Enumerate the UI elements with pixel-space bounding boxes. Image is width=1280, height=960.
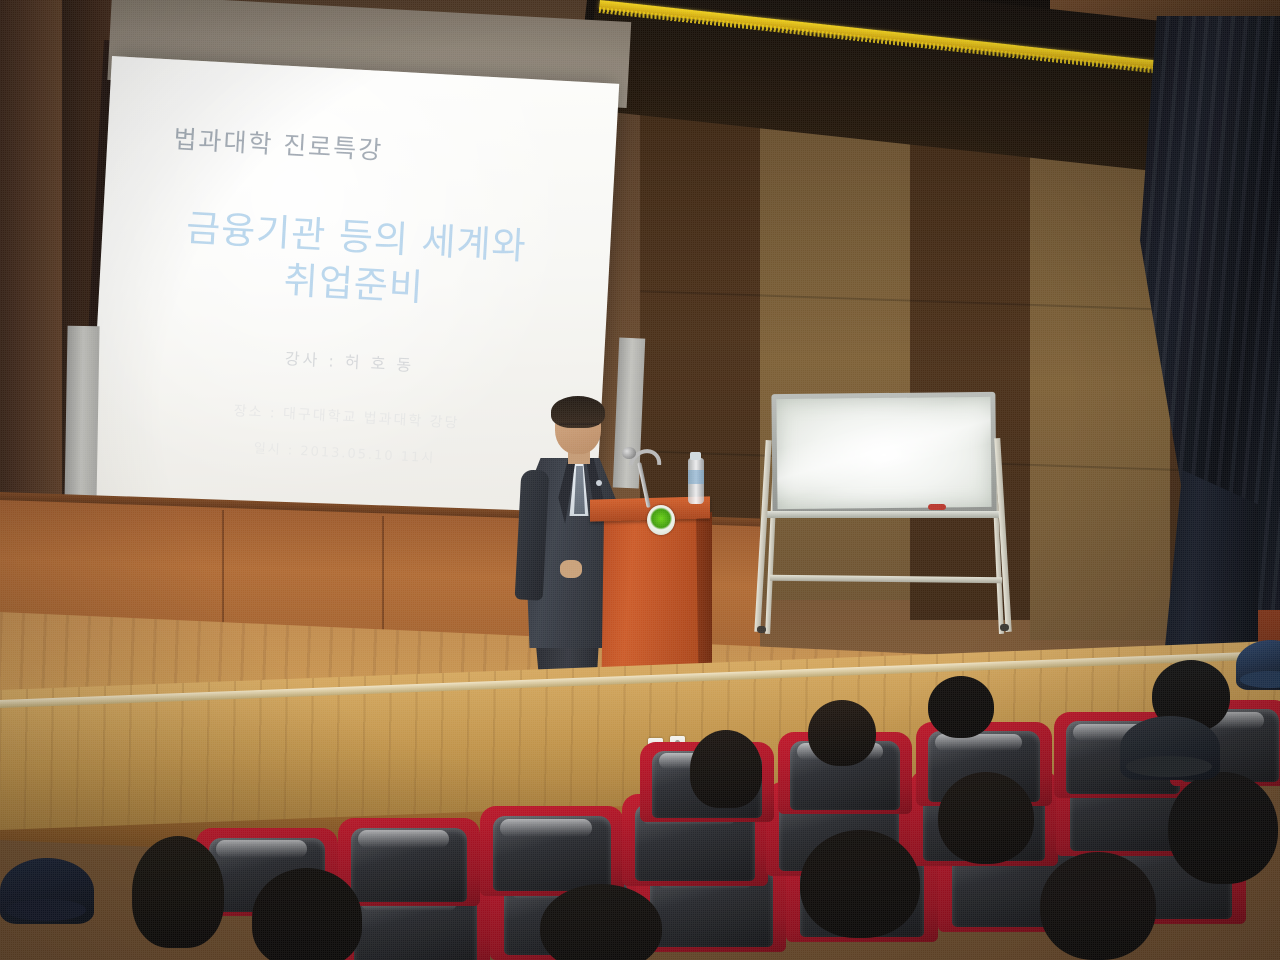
audience-member-dark-cap: [1120, 716, 1220, 780]
whiteboard-foot-right: [1000, 624, 1009, 631]
cap-brim: [1126, 756, 1212, 778]
low-wall-seam-2: [382, 516, 384, 636]
podium-university-emblem: [647, 505, 675, 535]
audience-member-head: [1040, 852, 1156, 960]
water-bottle-cap: [690, 452, 701, 460]
audience-member-head: [800, 830, 920, 938]
whiteboard-marker-tray: [766, 511, 1004, 518]
slide-title: 금융기관 등의 세계와 취업준비: [133, 202, 578, 321]
audience-member-head: [132, 836, 224, 948]
presenter-lapel-badge: [596, 480, 602, 486]
slide-place-line: 장소 : 대구대학교 법과대학 강당: [126, 394, 566, 438]
wall-speaker-panel-left: [64, 326, 99, 507]
cap-brim: [1240, 671, 1280, 688]
seat-gloss-highlight: [216, 840, 307, 858]
audience-member-head: [690, 730, 762, 808]
presenter-hand: [560, 560, 582, 578]
audience-member-head: [252, 868, 362, 960]
audience-member-head: [928, 676, 994, 738]
slide-speaker-line: 강사 : 허 호 동: [129, 336, 570, 384]
lecture-hall-photo: 법과대학 진로특강 금융기관 등의 세계와 취업준비 강사 : 허 호 동 장소…: [0, 0, 1280, 960]
seat-gloss-highlight: [500, 819, 592, 837]
slide-datetime-line: 일시 : 2013.05.10 11시: [124, 430, 564, 473]
auditorium-seat[interactable]: [338, 818, 480, 906]
presenter-glasses: [559, 423, 599, 431]
audience-member-head: [938, 772, 1034, 864]
microphone-head-icon: [622, 447, 636, 459]
audience-member-head: [808, 700, 876, 766]
whiteboard-foot-left: [757, 626, 766, 633]
seat-gloss-highlight: [358, 830, 449, 848]
whiteboard-glare: [776, 397, 991, 509]
cap-brim: [6, 899, 87, 921]
audience-member-navy-cap: [0, 858, 94, 924]
auditorium-seat[interactable]: [480, 806, 624, 896]
audience-member-head: [1168, 772, 1278, 884]
low-wall-seam-1: [222, 510, 224, 630]
whiteboard-marker: [928, 504, 946, 510]
wall-jamb-left: [0, 0, 62, 520]
water-bottle-label: [688, 470, 704, 484]
slide-kicker: 법과대학 진로특강: [173, 120, 582, 178]
